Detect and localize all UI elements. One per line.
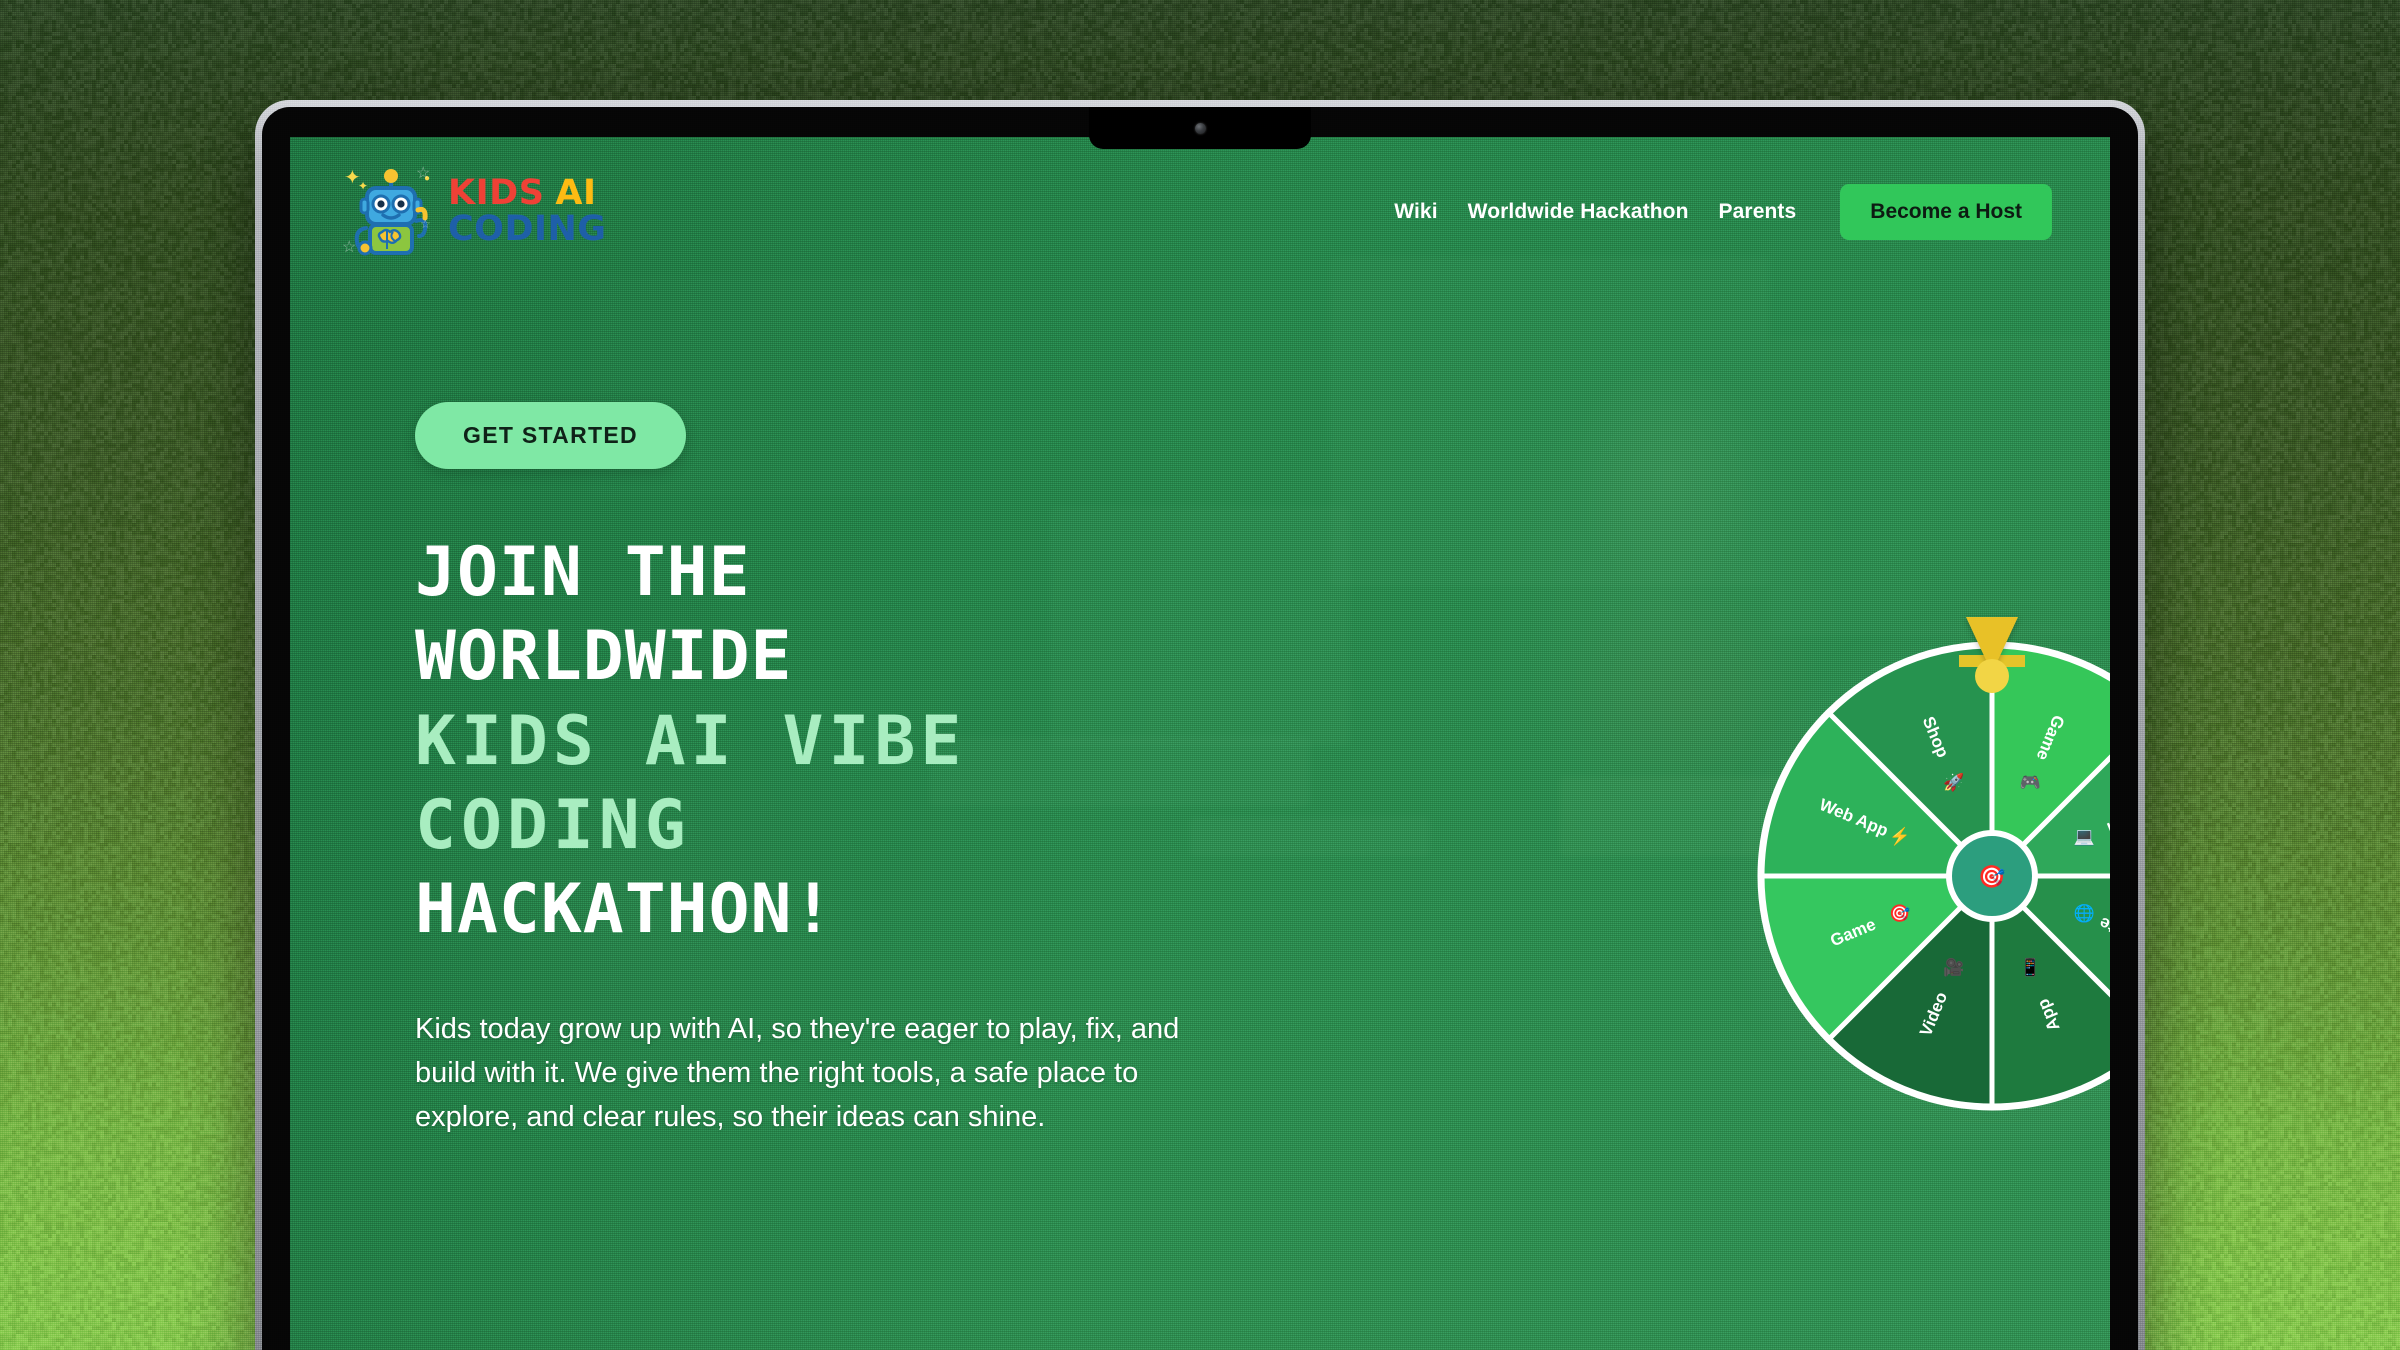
site-logo[interactable]: ✦ ✦ ● ☆ ☆ ☆ <box>348 166 607 258</box>
laptop-notch <box>1089 107 1311 149</box>
headline-line-2: WORLDWIDE <box>415 615 1335 699</box>
site-header: ✦ ✦ ● ☆ ☆ ☆ <box>290 137 2110 287</box>
laptop-bezel: ✦ ✦ ● ☆ ☆ ☆ <box>262 107 2138 1350</box>
headline-line-5: HACKATHON! <box>415 868 1335 952</box>
headline-line-1: JOIN THE <box>415 531 1335 615</box>
headline-line-4: CODING <box>415 784 1335 868</box>
wheel-segment-icon: 🎯 <box>1889 904 1910 923</box>
logo-wordmark: KIDS AI CODING <box>448 177 607 246</box>
wheel-segment-icon: 🎮 <box>2020 773 2041 792</box>
main-navigation: Wiki Worldwide Hackathon Parents Become … <box>1394 184 2052 240</box>
logo-word-coding: CODING <box>448 213 607 247</box>
logo-word-ai: AI <box>555 177 596 211</box>
webcam-icon <box>1195 123 1206 134</box>
headline-line-3: KIDS AI VIBE <box>415 700 1335 784</box>
robot-mascot-icon: ✦ ✦ ● ☆ ☆ ☆ <box>348 166 434 258</box>
get-started-button[interactable]: GET STARTED <box>415 402 686 469</box>
wheel-segment-icon: 💻 <box>2074 827 2095 846</box>
wheel-graphic[interactable]: Game🎮Social💻Website🌐App📱Video🎥Game🎯Web A… <box>1757 641 2110 1111</box>
wheel-segment-icon: 🚀 <box>1943 772 1964 792</box>
wheel-hub[interactable] <box>1949 833 2035 919</box>
wheel-segment-icon: 🌐 <box>2074 903 2095 923</box>
hero-paragraph: Kids today grow up with AI, so they're e… <box>415 1007 1215 1139</box>
hero-section: GET STARTED JOIN THE WORLDWIDE KIDS AI V… <box>415 402 1335 1139</box>
website-screen: ✦ ✦ ● ☆ ☆ ☆ <box>290 137 2110 1350</box>
wheel-segment-icon: 🎥 <box>1943 957 1964 977</box>
hero-headline: JOIN THE WORLDWIDE KIDS AI VIBE CODING H… <box>415 531 1335 953</box>
nav-link-parents[interactable]: Parents <box>1719 200 1797 224</box>
wheel-pointer-knob <box>1975 659 2009 693</box>
nav-link-worldwide-hackathon[interactable]: Worldwide Hackathon <box>1468 200 1689 224</box>
become-a-host-button[interactable]: Become a Host <box>1840 184 2052 240</box>
page-backdrop: ✦ ✦ ● ☆ ☆ ☆ <box>0 0 2400 1350</box>
logo-word-kids: KIDS <box>448 177 544 211</box>
laptop-device-frame: ✦ ✦ ● ☆ ☆ ☆ <box>255 100 2145 1350</box>
spin-wheel[interactable]: Game🎮Social💻Website🌐App📱Video🎥Game🎯Web A… <box>1722 607 2110 1147</box>
wheel-segment-icon: ⚡ <box>1889 826 1910 847</box>
nav-link-wiki[interactable]: Wiki <box>1394 200 1437 224</box>
wheel-segment-icon: 📱 <box>2020 957 2041 977</box>
